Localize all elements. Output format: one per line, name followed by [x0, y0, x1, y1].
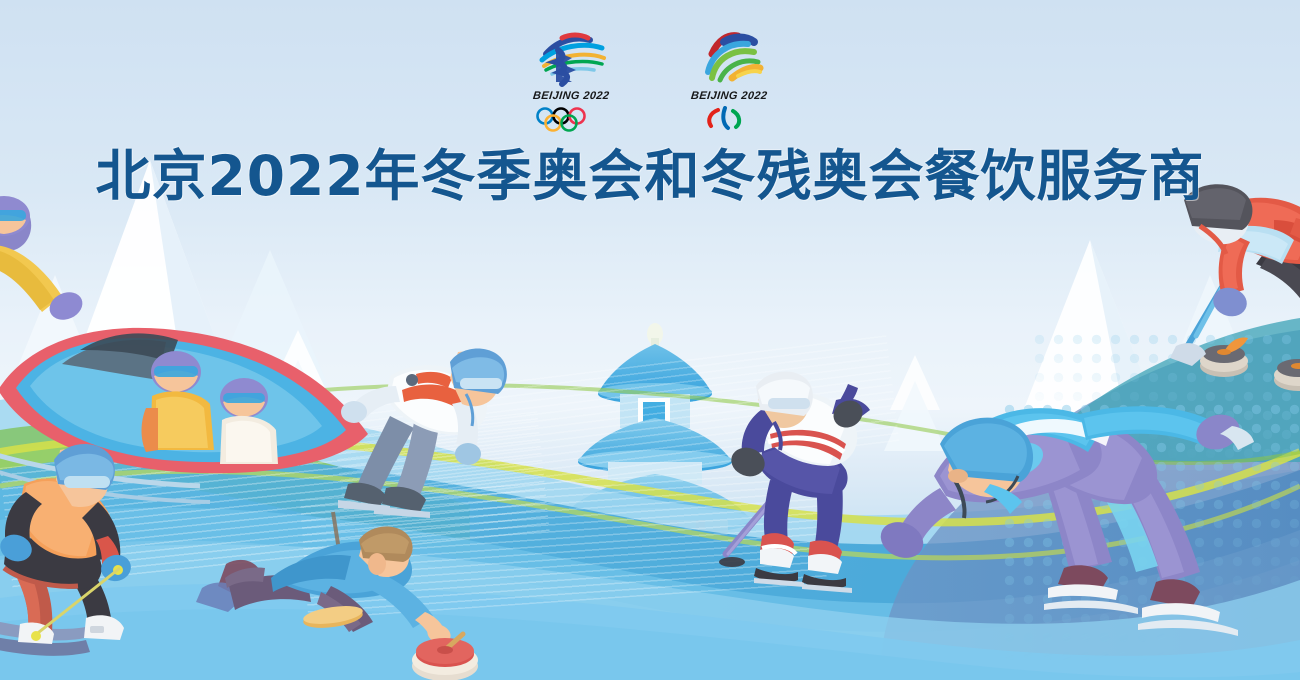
- olympic-rings: [531, 106, 611, 132]
- beijing-2022-winter-olympics-emblem: [532, 32, 610, 88]
- athlete-curler-delivering: [225, 520, 525, 680]
- paralympic-wordmark: BEIJING 2022: [690, 90, 768, 102]
- olympic-emblem-block: BEIJING 2022: [516, 32, 626, 132]
- paralympic-emblem-block: BEIJING 2022: [674, 32, 784, 132]
- athlete-speed-skater: [900, 372, 1300, 680]
- paralympic-agitos: [694, 106, 764, 132]
- page-title: 北京2022年冬季奥会和冬残奥会餐饮服务商: [0, 146, 1300, 206]
- emblem-group: BEIJING 2022: [0, 32, 1300, 132]
- beijing-2022-winter-paralympics-emblem: [690, 32, 768, 88]
- olympic-wordmark: BEIJING 2022: [532, 90, 610, 102]
- beijing-2022-banner: BEIJING 2022: [0, 0, 1300, 680]
- athlete-curler-sweeping: [1148, 186, 1300, 416]
- athlete-short-track-speed-skater: [338, 348, 548, 538]
